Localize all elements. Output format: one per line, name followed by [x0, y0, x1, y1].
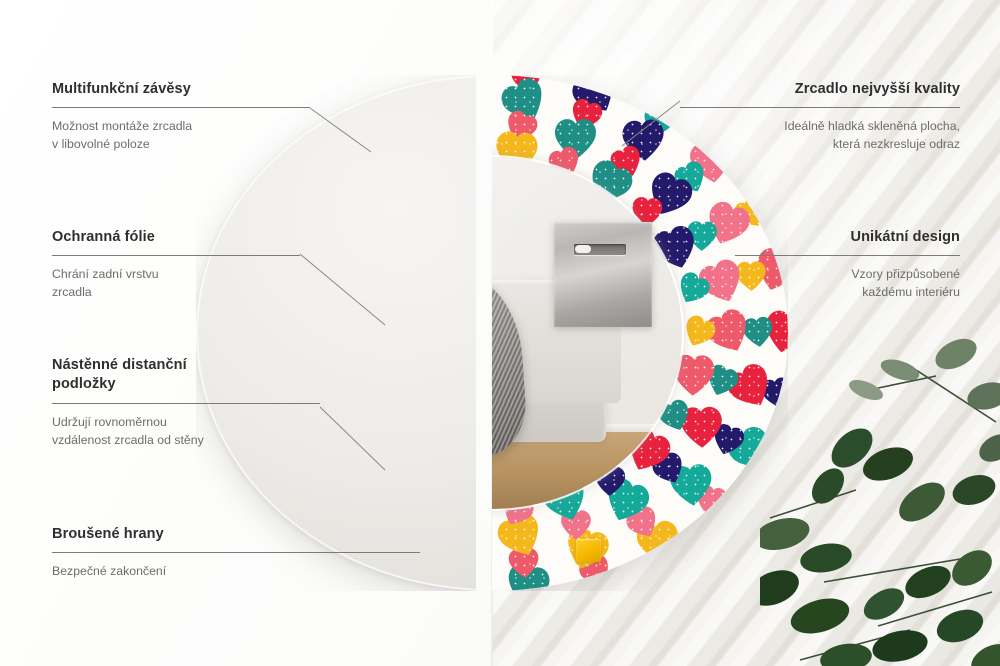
- callout-body-line1: Bezpečné zakončení: [52, 563, 420, 581]
- callout-rule: [680, 107, 960, 108]
- callout-rule: [52, 255, 300, 256]
- callout-body-line2: každému interiéru: [735, 284, 960, 302]
- callout-body-line2: která nezkresluje odraz: [680, 136, 960, 154]
- callout-body-line1: Možnost montáže zrcadla: [52, 118, 310, 136]
- callout-multifunctional-hangers: Multifunkční závěsy Možnost montáže zrca…: [52, 80, 310, 154]
- wall-spacer-pad: [576, 539, 601, 562]
- callout-body-line1: Chrání zadní vrstvu: [52, 266, 300, 284]
- callout-title-line1: Nástěnné distanční: [52, 356, 320, 375]
- callout-body-line2: v libovolné poloze: [52, 136, 310, 154]
- callout-highest-quality-mirror: Zrcadlo nejvyšší kvality Ideálně hladká …: [680, 80, 960, 154]
- callout-polished-edges: Broušené hrany Bezpečné zakončení: [52, 525, 420, 581]
- callout-body-line1: Vzory přizpůsobené: [735, 266, 960, 284]
- callout-title: Zrcadlo nejvyšší kvality: [680, 80, 960, 99]
- callout-rule: [735, 255, 960, 256]
- callout-title: Multifunkční závěsy: [52, 80, 310, 99]
- callout-body-line2: zrcadla: [52, 284, 300, 302]
- callout-title: Broušené hrany: [52, 525, 420, 544]
- callout-title-line2: podložky: [52, 375, 320, 394]
- callout-title: Unikátní design: [735, 228, 960, 247]
- callout-rule: [52, 403, 320, 404]
- callout-wall-spacers: Nástěnné distanční podložky Udržují rovn…: [52, 356, 320, 449]
- callout-protective-film: Ochranná fólie Chrání zadní vrstvu zrcad…: [52, 228, 300, 302]
- callout-body-line2: vzdálenost zrcadla od stěny: [52, 432, 320, 450]
- callout-rule: [52, 552, 420, 553]
- callout-unique-design: Unikátní design Vzory přizpůsobené každé…: [735, 228, 960, 302]
- callout-body-line1: Ideálně hladká skleněná plocha,: [680, 118, 960, 136]
- wall-hanger-plate: [554, 222, 652, 327]
- callout-body-line1: Udržují rovnoměrnou: [52, 414, 320, 432]
- callout-title: Ochranná fólie: [52, 228, 300, 247]
- infographic-stage: Multifunkční závěsy Možnost montáže zrca…: [0, 0, 1000, 666]
- hanger-keyhole-slot: [574, 244, 626, 255]
- callout-rule: [52, 107, 310, 108]
